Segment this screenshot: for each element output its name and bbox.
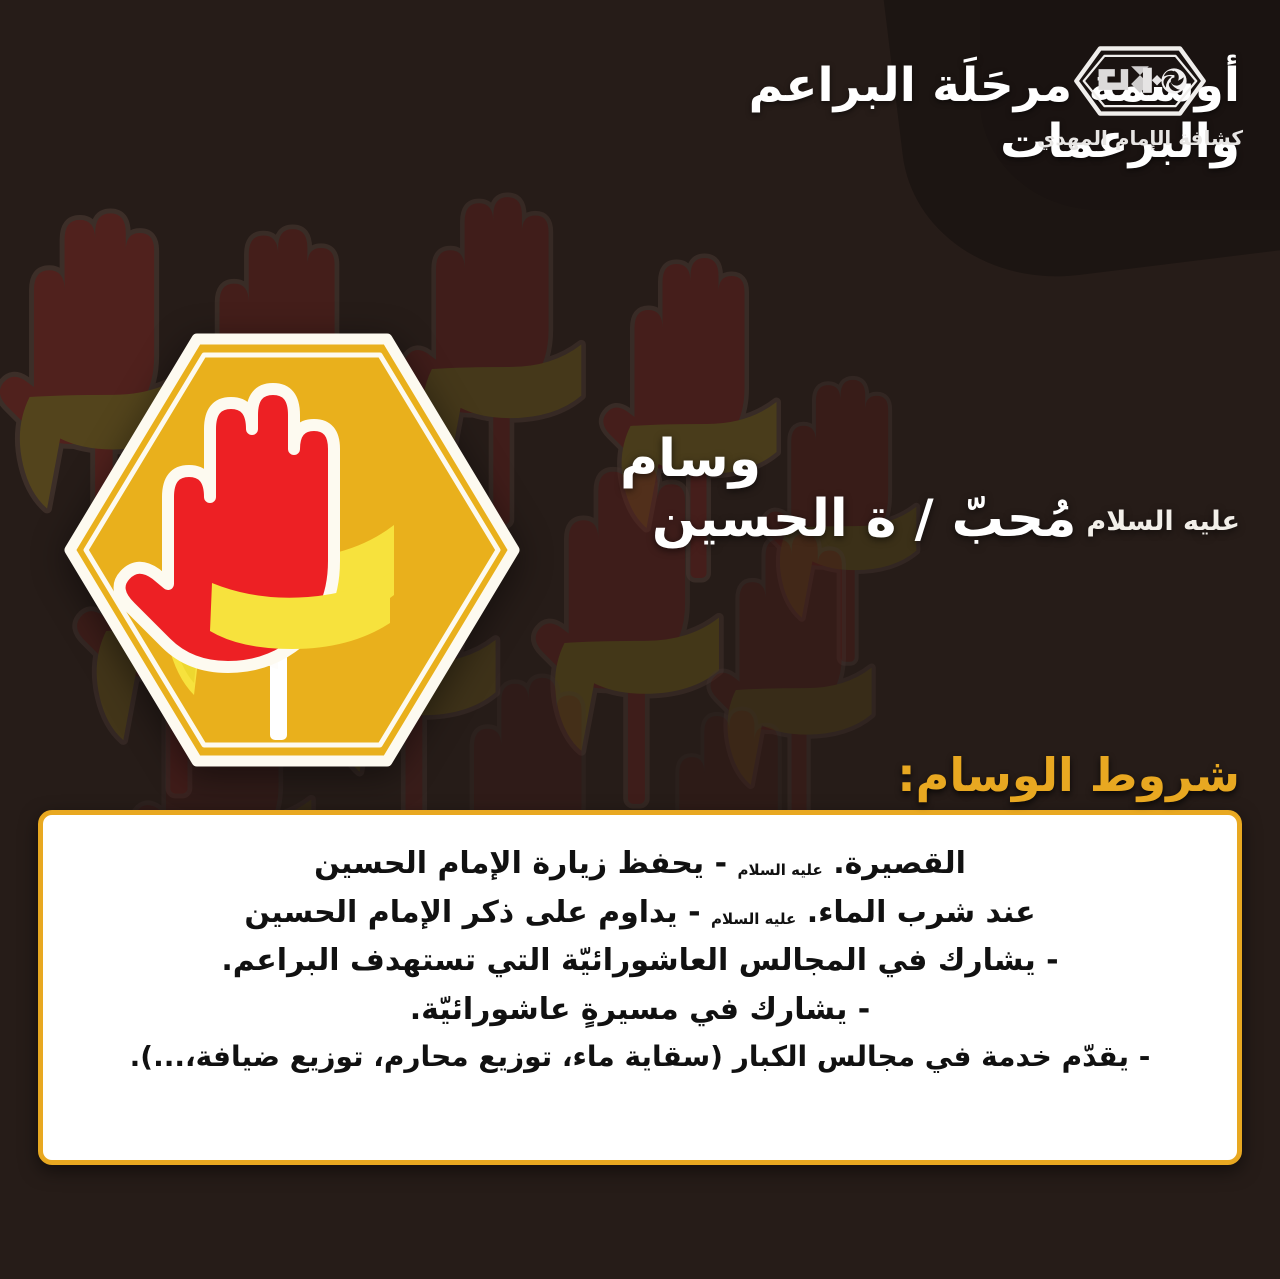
honorific-glyph-icon: عليه السلام (1086, 508, 1240, 535)
scout-hexagon-emblem-icon (1066, 44, 1214, 118)
condition-suffix: القصيرة. (833, 846, 966, 881)
condition-item: - يقدّم خدمة في مجالس الكبار (سقاية ماء،… (77, 1037, 1203, 1077)
poster-canvas: أوسمة مرحَلَة البراعم والبرعمات (0, 0, 1280, 1279)
condition-item: القصيرة. عليه السلام - يحفظ زيارة الإمام… (77, 843, 1203, 886)
condition-suffix: عند شرب الماء. (807, 895, 1036, 930)
condition-prefix: - يقدّم خدمة في مجالس الكبار (سقاية ماء،… (130, 1040, 1151, 1073)
honorific-glyph-icon: عليه السلام (738, 863, 823, 878)
conditions-heading: شروط الوسام: (897, 748, 1240, 802)
conditions-card: القصيرة. عليه السلام - يحفظ زيارة الإمام… (38, 810, 1242, 1165)
brand-name: كشافة الإمام المهدي (1037, 126, 1243, 150)
condition-prefix: - يشارك في مسيرةٍ عاشورائيّة. (410, 992, 871, 1027)
badge-name-block: وسام عليه السلام مُحبّ / ة الحسين (620, 430, 1240, 551)
condition-item: - يشارك في المجالس العاشورائيّة التي تست… (77, 940, 1203, 983)
brand-block: كشافة الإمام المهدي (1040, 44, 1240, 150)
condition-item: - يشارك في مسيرةٍ عاشورائيّة. (77, 989, 1203, 1032)
badge-title-line-1: وسام (620, 430, 1240, 488)
badge-title-line-2: عليه السلام مُحبّ / ة الحسين (620, 488, 1240, 550)
condition-item: عند شرب الماء. عليه السلام - يداوم على ذ… (77, 892, 1203, 935)
condition-prefix: - يداوم على ذكر الإمام الحسين (244, 895, 700, 930)
condition-prefix: - يحفظ زيارة الإمام الحسين (314, 846, 727, 881)
honorific-glyph-icon: عليه السلام (711, 912, 796, 927)
hexagon-badge-raised-hand-icon (52, 325, 532, 775)
condition-prefix: - يشارك في المجالس العاشورائيّة التي تست… (221, 943, 1058, 978)
badge-title-line-2-text: مُحبّ / ة الحسين (652, 488, 1076, 550)
